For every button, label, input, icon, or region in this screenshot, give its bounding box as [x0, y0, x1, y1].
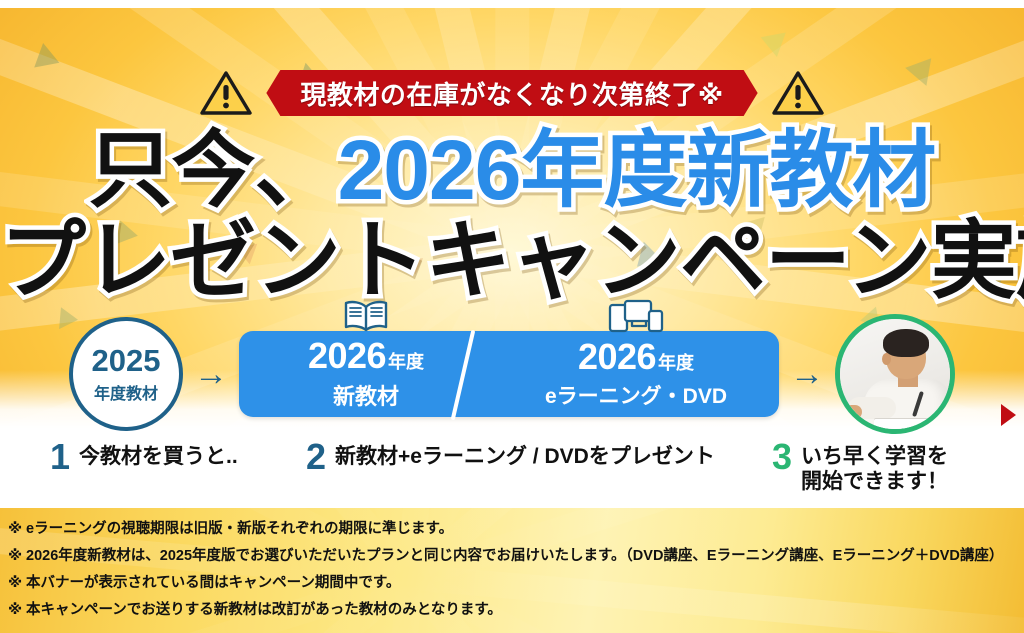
steps-row: 1 今教材を買うと.. 2 新教材+eラーニング / DVDをプレゼント 3 い…	[0, 440, 1024, 510]
headline-highlight: 2026年度新教材	[338, 123, 936, 217]
warning-triangle-icon	[200, 70, 252, 116]
note-item: ※ 本キャンペーンでお送りする新教材は改訂があった教材のみとなります。	[0, 601, 1024, 619]
headline-line-2: プレゼントキャンペーン実施中!	[0, 218, 1024, 304]
headline-prefix: 只今、	[89, 123, 338, 217]
old-material-circle: 2025 年度教材	[69, 317, 183, 431]
open-book-icon	[343, 299, 389, 338]
headline-line-1: 只今、2026年度新教材	[0, 128, 1024, 212]
old-material-year: 2025	[92, 345, 161, 376]
step-item: 3 いち早く学習を 開始できます！	[772, 440, 948, 495]
new-material-box: 2026 年度 新教材 2026 年度	[239, 331, 779, 417]
campaign-flow: 2025 年度教材 → 2026 年度 新教材	[0, 318, 1024, 430]
step-text: 今教材を買うと..	[79, 440, 238, 470]
new-material-label: 新教材	[333, 379, 399, 411]
old-material-label: 年度教材	[94, 380, 158, 404]
note-item: ※ 2026年度新教材は、2025年度版でお選びいただいたプランと同じ内容でお届…	[0, 547, 1024, 565]
new-material-year-line: 2026 年度	[308, 338, 424, 374]
ribbon-plate: 現教材の在庫がなくなり次第終了※	[266, 70, 757, 116]
flow-arrow-2-icon: →	[779, 357, 835, 391]
new-material-year: 2026	[308, 338, 386, 374]
studying-person-photo	[835, 314, 955, 434]
step-text: 新教材+eラーニング / DVDをプレゼント	[335, 440, 715, 470]
warning-triangle-icon	[772, 70, 824, 116]
note-text: 2026年度新教材は、2025年度版でお選びいただいたプランと同じ内容でお届けい…	[26, 548, 1003, 564]
elearning-year: 2026	[578, 339, 656, 375]
elearning-half: 2026 年度 eラーニング・DVD	[493, 331, 779, 417]
step-item: 2 新教材+eラーニング / DVDをプレゼント	[306, 440, 715, 474]
step-number: 3	[772, 440, 792, 474]
step-number: 1	[50, 440, 70, 474]
note-text: 本キャンペーンでお送りする新教材は改訂があった教材のみとなります。	[26, 602, 502, 618]
note-text: 本バナーが表示されている間はキャンペーン期間中です。	[26, 575, 400, 591]
stock-warning-ribbon: 現教材の在庫がなくなり次第終了※	[0, 62, 1024, 124]
note-mark: ※	[8, 547, 22, 565]
note-mark: ※	[8, 574, 22, 592]
step-item: 1 今教材を買うと..	[50, 440, 238, 474]
elearning-year-suffix: 年度	[658, 354, 694, 372]
step-number: 2	[306, 440, 326, 474]
next-arrow-icon[interactable]	[1001, 404, 1016, 426]
note-mark: ※	[8, 520, 22, 538]
flow-arrow-1-icon: →	[183, 357, 239, 391]
new-material-year-suffix: 年度	[388, 353, 424, 371]
step-text: いち早く学習を 開始できます！	[801, 440, 948, 495]
campaign-banner: 現教材の在庫がなくなり次第終了※ 只今、2026年度新教材 プレゼントキャンペー…	[0, 0, 1024, 633]
note-mark: ※	[8, 601, 22, 619]
headline: 只今、2026年度新教材 プレゼントキャンペーン実施中!	[0, 128, 1024, 304]
note-item: ※ eラーニングの視聴期限は旧版・新版それぞれの期限に準じます。	[0, 520, 1024, 538]
note-item: ※ 本バナーが表示されている間はキャンペーン期間中です。	[0, 574, 1024, 592]
elearning-year-line: 2026 年度	[578, 339, 694, 375]
note-text: eラーニングの視聴期限は旧版・新版それぞれの期限に準じます。	[26, 521, 453, 537]
notes-band: ※ eラーニングの視聴期限は旧版・新版それぞれの期限に準じます。 ※ 2026年…	[0, 508, 1024, 633]
ribbon-text: 現教材の在庫がなくなり次第終了※	[300, 75, 723, 112]
devices-icon	[608, 299, 664, 338]
elearning-label: eラーニング・DVD	[545, 380, 727, 410]
